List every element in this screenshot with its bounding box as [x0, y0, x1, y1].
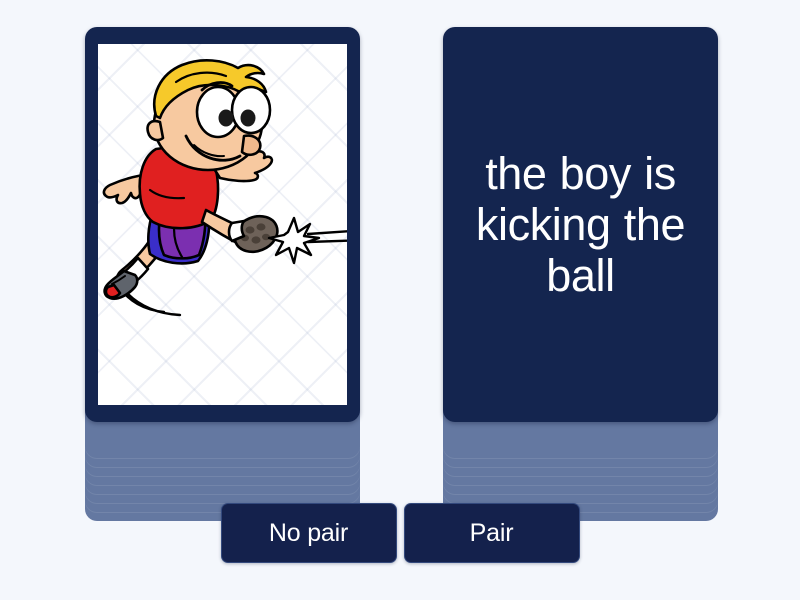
no-pair-button[interactable]: No pair [221, 503, 397, 563]
text-card-stack[interactable]: the boy is kicking the ball [443, 27, 718, 479]
pair-button[interactable]: Pair [404, 503, 580, 563]
image-card[interactable] [85, 27, 360, 422]
image-card-plate [98, 44, 347, 405]
answer-button-bar: No pair Pair [0, 503, 800, 565]
boy-kicking-soccer-ball-illustration [98, 44, 347, 405]
image-card-stack[interactable] [85, 27, 360, 479]
text-card-label: the boy is kicking the ball [457, 148, 704, 302]
card-board: the boy is kicking the ball [0, 0, 800, 496]
text-card-body: the boy is kicking the ball [443, 27, 718, 422]
text-card[interactable]: the boy is kicking the ball [443, 27, 718, 422]
